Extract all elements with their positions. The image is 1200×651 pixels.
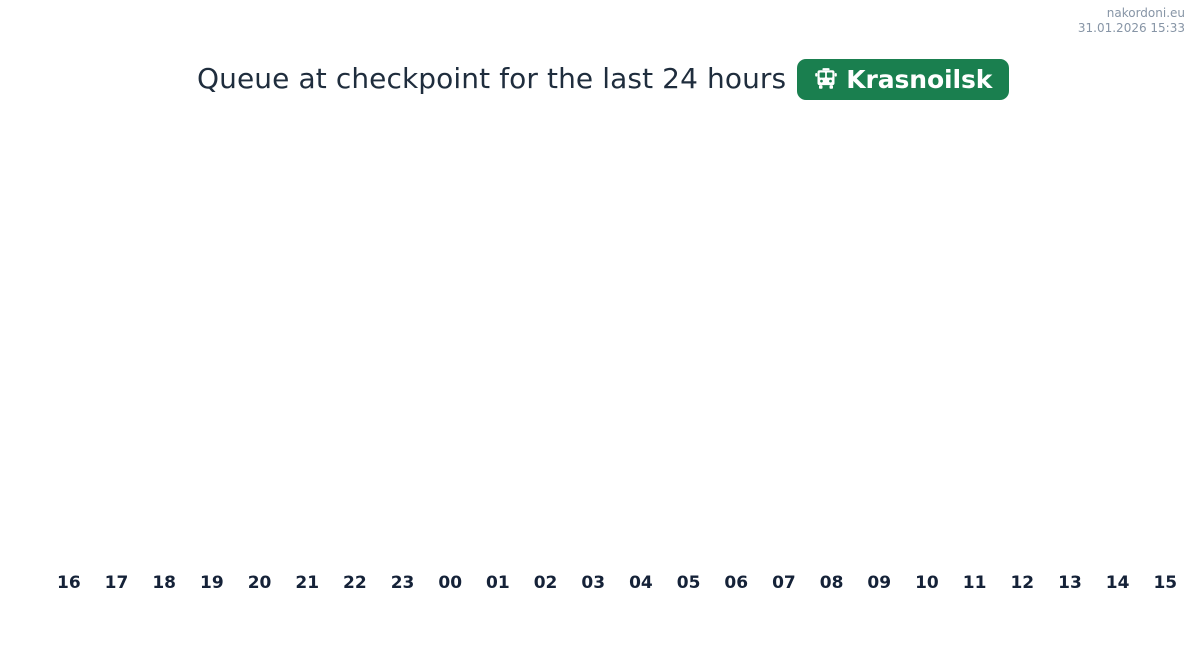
bar-slot bbox=[45, 110, 93, 570]
bar-slot bbox=[1094, 110, 1142, 570]
x-tick-label: 08 bbox=[808, 570, 856, 596]
queue-bar-chart bbox=[0, 110, 1200, 570]
capture-timestamp: 31.01.2026 15:33 bbox=[1078, 21, 1185, 36]
x-tick-label: 12 bbox=[998, 570, 1046, 596]
x-tick-label: 06 bbox=[712, 570, 760, 596]
bar-slot bbox=[140, 110, 188, 570]
x-tick-label: 15 bbox=[1141, 570, 1189, 596]
x-tick-label: 16 bbox=[45, 570, 93, 596]
bar-slot bbox=[855, 110, 903, 570]
x-tick-label: 02 bbox=[522, 570, 570, 596]
bar-slot bbox=[379, 110, 427, 570]
x-tick-label: 04 bbox=[617, 570, 665, 596]
bar-slot bbox=[569, 110, 617, 570]
page-title: Queue at checkpoint for the last 24 hour… bbox=[197, 57, 786, 101]
checkpoint-badge[interactable]: Krasnoilsk bbox=[797, 59, 1009, 100]
checkpoint-name: Krasnoilsk bbox=[846, 67, 992, 92]
x-tick-label: 09 bbox=[855, 570, 903, 596]
site-watermark: nakordoni.eu bbox=[1078, 6, 1185, 21]
x-tick-label: 17 bbox=[93, 570, 141, 596]
x-tick-label: 22 bbox=[331, 570, 379, 596]
bus-icon bbox=[814, 67, 838, 91]
bar-slot bbox=[903, 110, 951, 570]
bar-slot bbox=[522, 110, 570, 570]
bar-slot bbox=[1046, 110, 1094, 570]
plot-area bbox=[45, 110, 1189, 570]
bar-slot bbox=[998, 110, 1046, 570]
bar-slot bbox=[331, 110, 379, 570]
bar-slot bbox=[712, 110, 760, 570]
x-tick-label: 14 bbox=[1094, 570, 1142, 596]
x-tick-label: 03 bbox=[569, 570, 617, 596]
page-meta: nakordoni.eu 31.01.2026 15:33 bbox=[1078, 6, 1185, 36]
bar-slot bbox=[236, 110, 284, 570]
bar-slot bbox=[93, 110, 141, 570]
bar-slot bbox=[283, 110, 331, 570]
x-tick-label: 01 bbox=[474, 570, 522, 596]
x-tick-label: 23 bbox=[379, 570, 427, 596]
x-tick-label: 19 bbox=[188, 570, 236, 596]
bar-slot bbox=[426, 110, 474, 570]
x-tick-label: 07 bbox=[760, 570, 808, 596]
bar-slot bbox=[760, 110, 808, 570]
bar-slot bbox=[617, 110, 665, 570]
bar-slot bbox=[188, 110, 236, 570]
bar-slot bbox=[951, 110, 999, 570]
x-tick-label: 10 bbox=[903, 570, 951, 596]
x-tick-label: 00 bbox=[426, 570, 474, 596]
x-tick-label: 13 bbox=[1046, 570, 1094, 596]
x-tick-label: 18 bbox=[140, 570, 188, 596]
bar-slot bbox=[808, 110, 856, 570]
bar-slot bbox=[474, 110, 522, 570]
x-tick-label: 21 bbox=[283, 570, 331, 596]
x-axis-labels: 1617181920212223000102030405060708091011… bbox=[45, 570, 1189, 596]
x-tick-label: 05 bbox=[665, 570, 713, 596]
bar-slot bbox=[665, 110, 713, 570]
bar-slot bbox=[1141, 110, 1189, 570]
x-tick-label: 20 bbox=[236, 570, 284, 596]
chart-header: Queue at checkpoint for the last 24 hour… bbox=[197, 57, 1009, 101]
x-tick-label: 11 bbox=[951, 570, 999, 596]
